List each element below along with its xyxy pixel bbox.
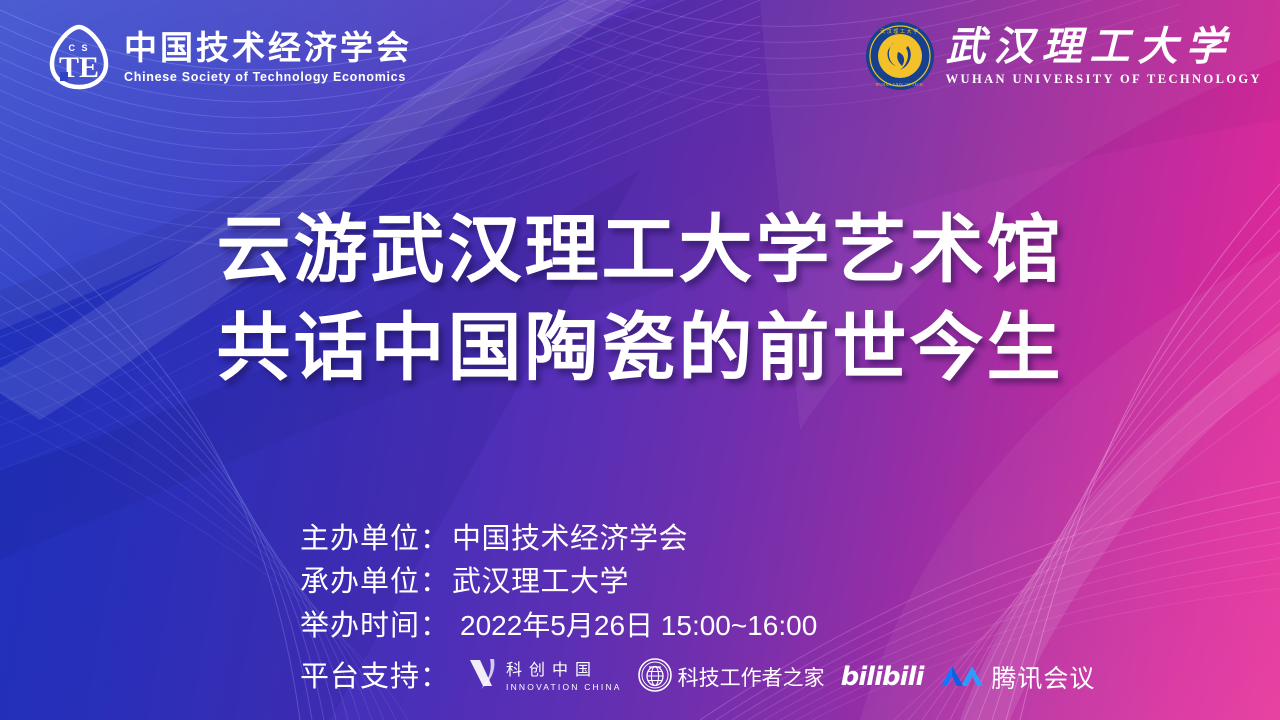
platform-logo-innovation-china[interactable]: 科创中国 INNOVATION CHINA bbox=[466, 657, 622, 697]
svg-text:武汉理工大学: 武汉理工大学 bbox=[880, 28, 920, 35]
cast-globe-seal-icon bbox=[638, 658, 672, 697]
society-logo: C S TE 中国技术经济学会 Chinese Society of Techn… bbox=[44, 22, 412, 92]
platform-logo-cast-home[interactable]: 科技工作者之家 bbox=[638, 657, 825, 697]
tencent-meeting-name-cn: 腾讯会议 bbox=[991, 659, 1095, 695]
poster-canvas: C S TE 中国技术经济学会 Chinese Society of Techn… bbox=[0, 0, 1280, 720]
organizer-value: 中国技术经济学会 bbox=[452, 523, 688, 555]
university-logo: 武汉理工大学 WUHAN UNIV. OF TECH. 武汉理工大学 WUHAN… bbox=[864, 20, 1262, 92]
university-name-en: WUHAN UNIVERSITY OF TECHNOLOGY bbox=[946, 72, 1262, 87]
society-emblem-icon: C S TE bbox=[44, 22, 114, 92]
cast-home-name-cn: 科技工作者之家 bbox=[678, 662, 825, 692]
society-logo-text: 中国技术经济学会 Chinese Society of Technology E… bbox=[124, 30, 412, 84]
datetime-value: 2022年5月26日 15:00~16:00 bbox=[460, 610, 817, 641]
society-name-cn: 中国技术经济学会 bbox=[124, 30, 412, 67]
innovation-china-name-en: INNOVATION CHINA bbox=[506, 682, 622, 692]
platform-logo-tencent-meeting[interactable]: 腾讯会议 bbox=[939, 657, 1095, 697]
university-emblem-icon: 武汉理工大学 WUHAN UNIV. OF TECH. bbox=[864, 20, 936, 92]
title-line-1: 云游武汉理工大学艺术馆 bbox=[0, 203, 1280, 301]
host-label: 承办单位： bbox=[300, 566, 450, 598]
innovation-china-wing-icon bbox=[466, 656, 500, 699]
bilibili-wordmark-icon: bilibili bbox=[841, 662, 924, 692]
svg-text:WUHAN UNIV. OF TECH.: WUHAN UNIV. OF TECH. bbox=[875, 83, 924, 87]
platform-support-row: 平台支持： 科创中国 INNOVATION CHINA bbox=[300, 655, 1095, 699]
info-row-organizer: 主办单位：中国技术经济学会 bbox=[300, 518, 817, 561]
society-name-en: Chinese Society of Technology Economics bbox=[124, 70, 412, 84]
platform-support-label: 平台支持： bbox=[300, 655, 450, 699]
platform-logo-bilibili[interactable]: bilibili bbox=[841, 657, 924, 697]
innovation-china-text: 科创中国 INNOVATION CHINA bbox=[506, 662, 622, 692]
innovation-china-name-cn: 科创中国 bbox=[506, 662, 622, 680]
datetime-label: 举办时间： bbox=[300, 610, 450, 642]
title-line-2: 共话中国陶瓷的前世今生 bbox=[0, 301, 1280, 399]
university-logo-text: 武汉理工大学 WUHAN UNIVERSITY OF TECHNOLOGY bbox=[946, 26, 1262, 87]
tencent-meeting-chevron-icon bbox=[939, 660, 985, 695]
info-row-datetime: 举办时间：2022年5月26日 15:00~16:00 bbox=[300, 604, 817, 648]
organizer-label: 主办单位： bbox=[300, 523, 450, 555]
info-row-host: 承办单位：武汉理工大学 bbox=[300, 561, 817, 604]
host-value: 武汉理工大学 bbox=[452, 566, 629, 598]
poster-title: 云游武汉理工大学艺术馆 共话中国陶瓷的前世今生 bbox=[0, 203, 1280, 398]
university-name-cn: 武汉理工大学 bbox=[946, 26, 1262, 68]
event-info: 主办单位：中国技术经济学会 承办单位：武汉理工大学 举办时间：2022年5月26… bbox=[300, 518, 817, 648]
